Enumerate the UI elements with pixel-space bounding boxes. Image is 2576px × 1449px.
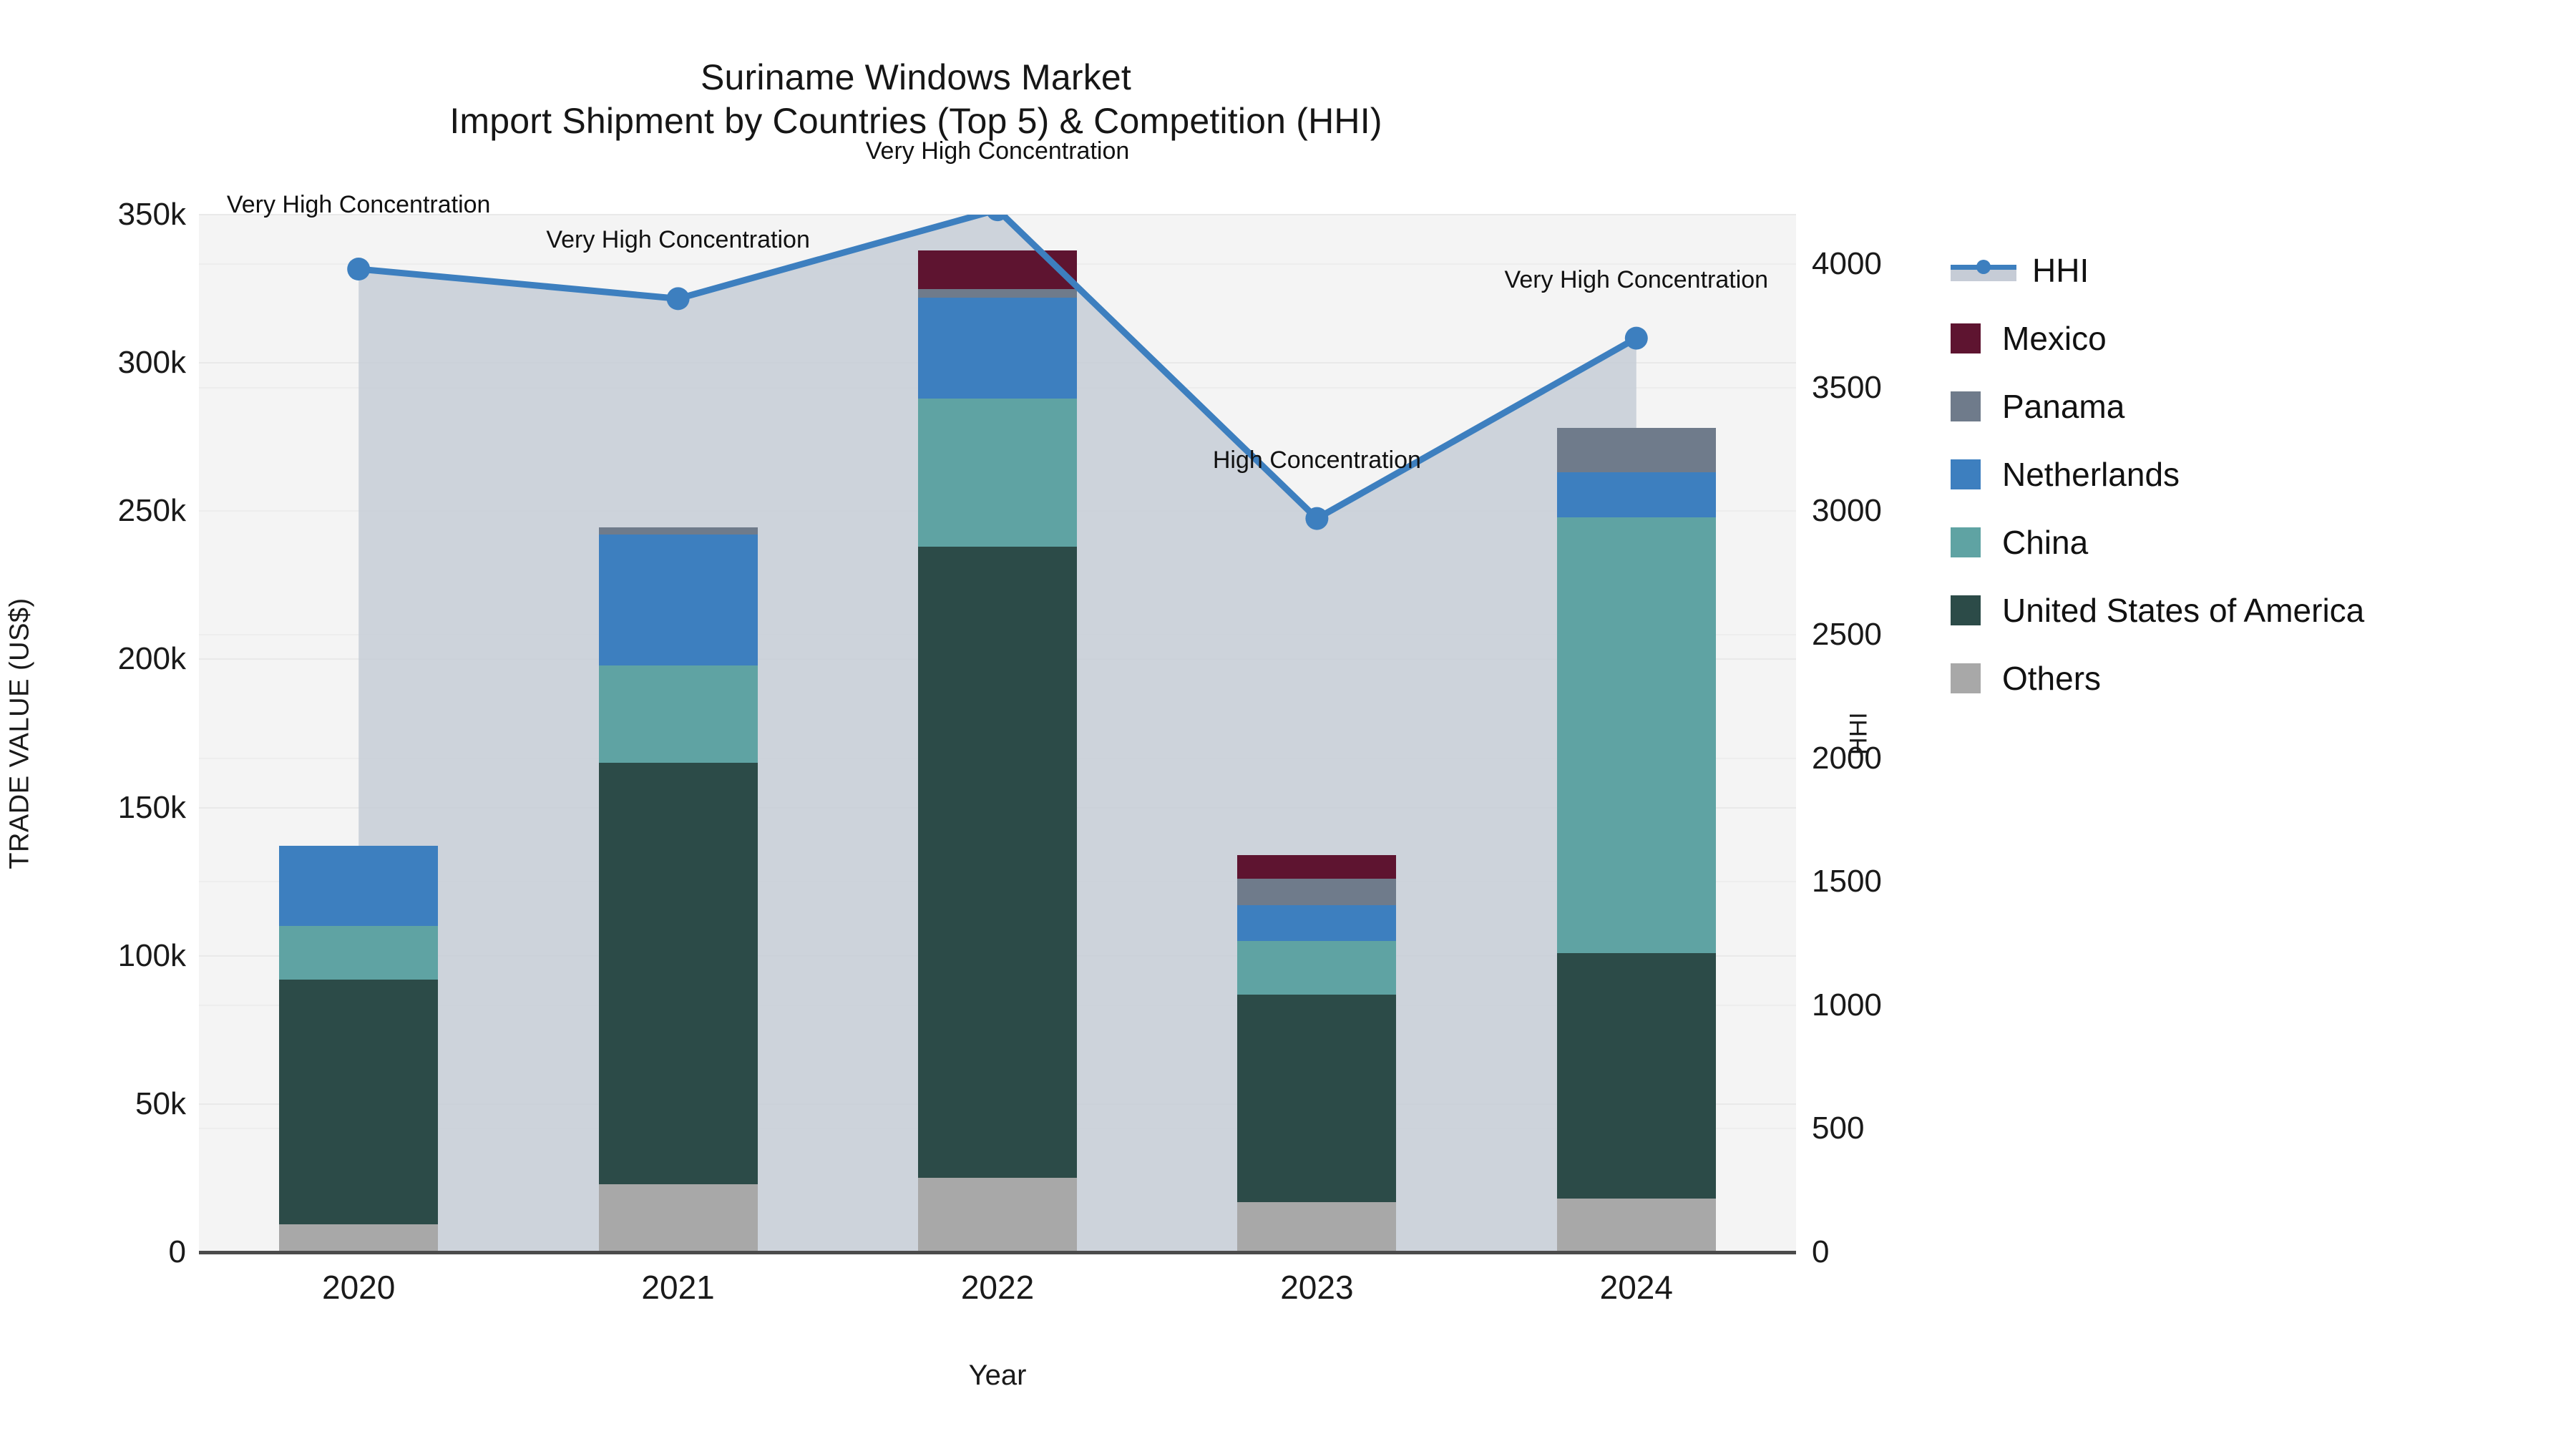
legend-line-marker-icon: [1951, 255, 2016, 286]
y-tick-left-100k: 100k: [7, 938, 186, 974]
legend-swatch-icon: [1951, 663, 1981, 693]
legend-label: Mexico: [2002, 319, 2107, 358]
x-tick-2020: 2020: [237, 1268, 480, 1307]
hhi-line-svg: [199, 215, 1796, 1252]
legend-label: United States of America: [2002, 591, 2364, 630]
annotation-2024: Very High Concentration: [1505, 266, 1769, 294]
annotation-2020: Very High Concentration: [227, 191, 491, 219]
hhi-marker-2024[interactable]: [1625, 327, 1648, 350]
chart-title: Suriname Windows Market: [0, 56, 1832, 99]
legend-item-panama[interactable]: Panama: [1951, 372, 2566, 440]
y-axis-left-label: TRADE VALUE (US$): [5, 597, 36, 869]
legend-label: China: [2002, 523, 2088, 562]
chart-figure: Suriname Windows Market Import Shipment …: [0, 0, 2576, 1449]
annotation-2022: Very High Concentration: [866, 137, 1130, 165]
x-tick-2021: 2021: [557, 1268, 800, 1307]
legend-line-dot: [1976, 260, 1991, 274]
y-tick-left-300k: 300k: [7, 345, 186, 381]
legend-item-china[interactable]: China: [1951, 508, 2566, 576]
legend-label: Panama: [2002, 387, 2124, 426]
y-tick-right-2000: 2000: [1812, 741, 1984, 776]
legend-label: Netherlands: [2002, 455, 2180, 494]
annotation-2023: High Concentration: [1213, 447, 1421, 474]
legend-swatch-icon: [1951, 323, 1981, 353]
x-axis-line: [199, 1251, 1796, 1254]
legend-swatch-icon: [1951, 527, 1981, 557]
legend-item-netherlands[interactable]: Netherlands: [1951, 440, 2566, 508]
plot-area: [199, 215, 1796, 1252]
y-tick-right-0: 0: [1812, 1234, 1984, 1270]
y-tick-left-50k: 50k: [7, 1086, 186, 1122]
hhi-marker-2023[interactable]: [1305, 507, 1328, 530]
x-tick-2023: 2023: [1195, 1268, 1438, 1307]
y-tick-left-0: 0: [7, 1234, 186, 1270]
y-tick-left-350k: 350k: [7, 197, 186, 233]
chart-subtitle: Import Shipment by Countries (Top 5) & C…: [0, 99, 1832, 143]
y-tick-left-250k: 250k: [7, 493, 186, 529]
annotation-2021: Very High Concentration: [546, 226, 810, 254]
legend-swatch-icon: [1951, 595, 1981, 625]
hhi-marker-2021[interactable]: [667, 287, 690, 310]
legend-item-mexico[interactable]: Mexico: [1951, 304, 2566, 372]
hhi-polyline: [358, 215, 1636, 519]
y-tick-right-1000: 1000: [1812, 987, 1984, 1023]
legend-item-others[interactable]: Others: [1951, 644, 2566, 712]
legend-swatch-icon: [1951, 391, 1981, 421]
legend-label: HHI: [2032, 251, 2089, 290]
y-tick-right-1500: 1500: [1812, 864, 1984, 899]
hhi-marker-2020[interactable]: [347, 258, 370, 280]
legend-item-united-states-of-america[interactable]: United States of America: [1951, 576, 2566, 644]
y-tick-right-500: 500: [1812, 1111, 1984, 1146]
chart-title-block: Suriname Windows Market Import Shipment …: [0, 56, 1832, 143]
y-tick-left-200k: 200k: [7, 641, 186, 677]
x-tick-2024: 2024: [1515, 1268, 1758, 1307]
y-tick-left-150k: 150k: [7, 790, 186, 826]
x-tick-2022: 2022: [876, 1268, 1119, 1307]
x-axis-label: Year: [199, 1360, 1796, 1392]
legend-swatch-icon: [1951, 459, 1981, 489]
chart-legend: HHIMexicoPanamaNetherlandsChinaUnited St…: [1951, 236, 2566, 712]
legend-item-hhi[interactable]: HHI: [1951, 236, 2566, 304]
legend-label: Others: [2002, 659, 2101, 698]
